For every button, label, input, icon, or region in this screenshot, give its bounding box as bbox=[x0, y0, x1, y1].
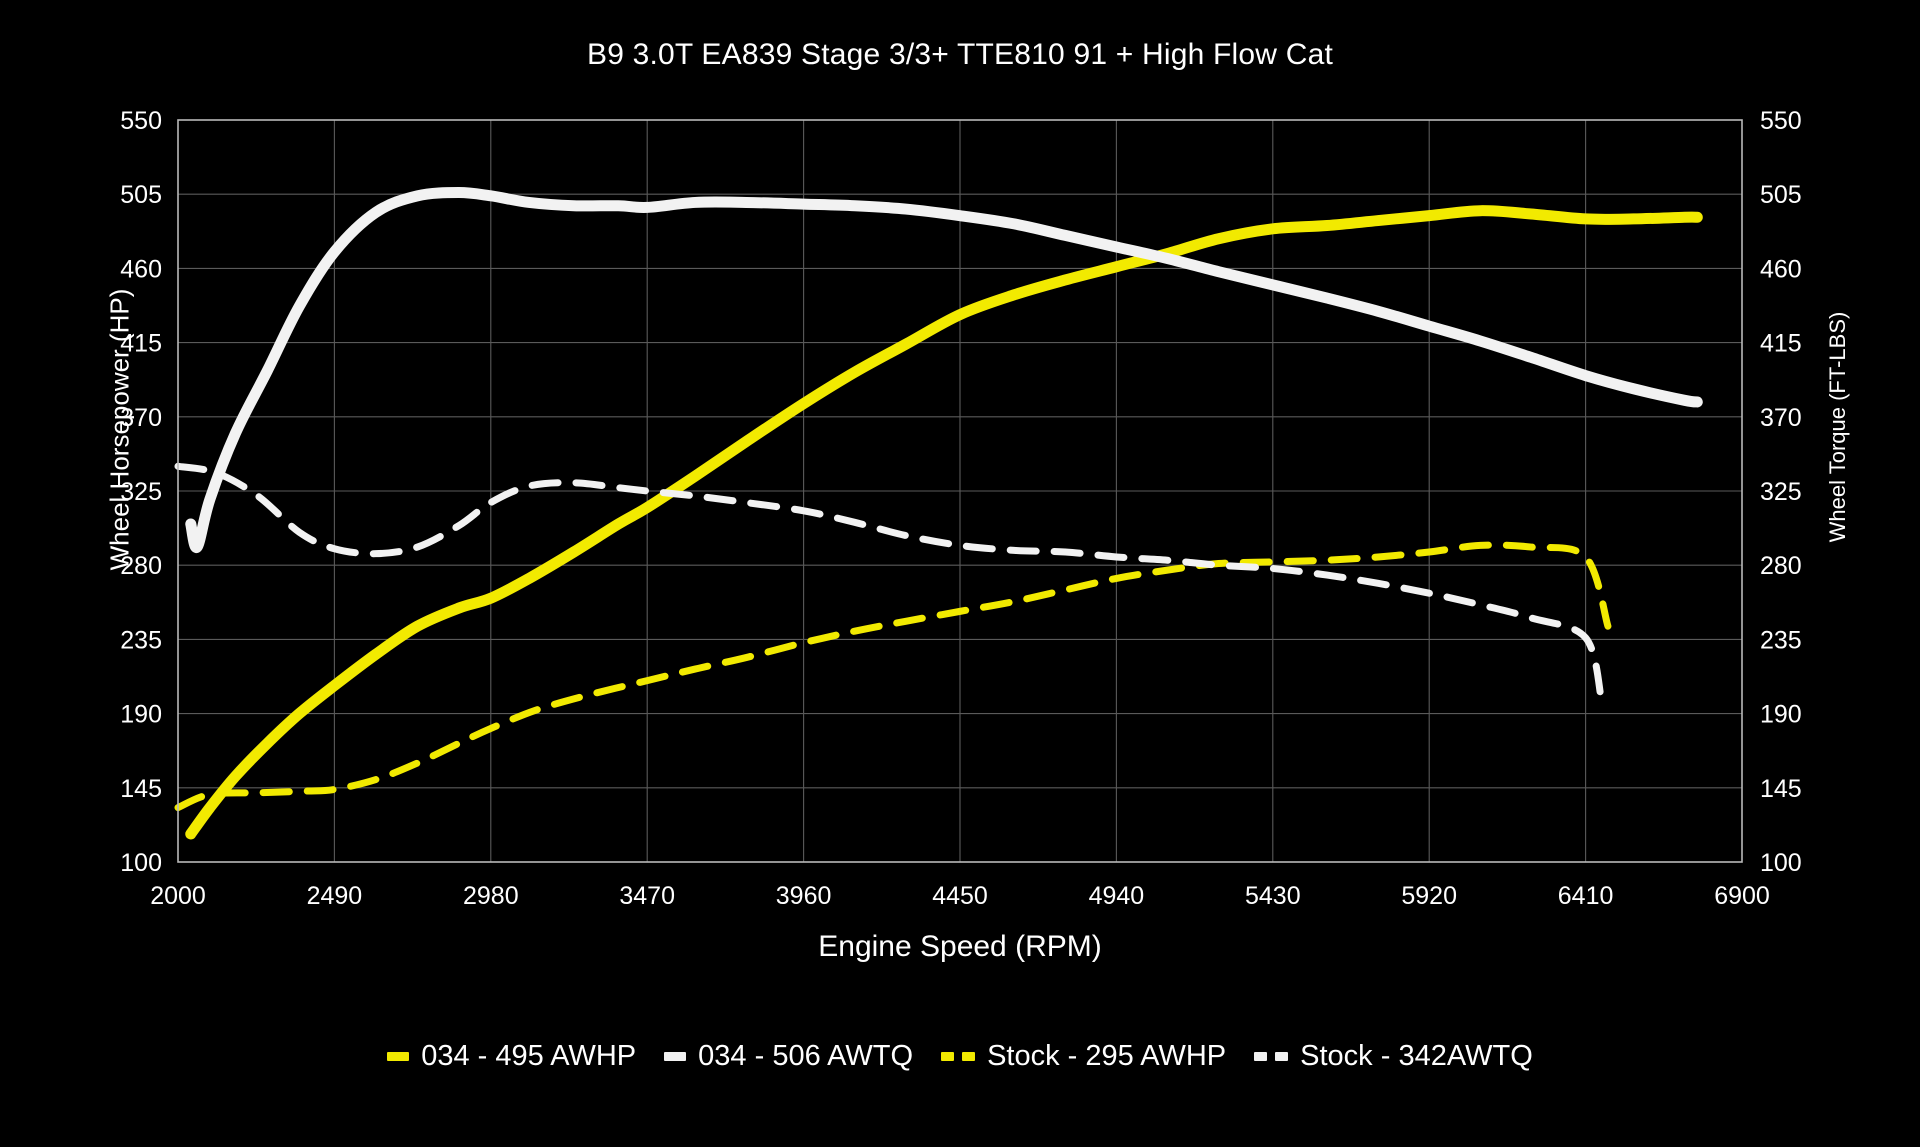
series-line-1 bbox=[191, 211, 1698, 834]
y-axis-right-tick: 190 bbox=[1760, 701, 1802, 729]
x-axis-tick: 3960 bbox=[776, 882, 832, 910]
y-axis-right-tick: 505 bbox=[1760, 181, 1802, 209]
x-axis-tick: 2980 bbox=[463, 882, 519, 910]
chart-legend: 034 - 495 AWHP034 - 506 AWTQStock - 295 … bbox=[0, 1040, 1920, 1073]
y-axis-left-tick: 505 bbox=[120, 181, 162, 209]
y-axis-right-tick: 235 bbox=[1760, 626, 1802, 654]
y-axis-left-tick: 370 bbox=[120, 404, 162, 432]
x-axis-tick: 6900 bbox=[1714, 882, 1770, 910]
legend-item[interactable]: Stock - 342AWTQ bbox=[1254, 1040, 1533, 1073]
dyno-chart: B9 3.0T EA839 Stage 3/3+ TTE810 91 + Hig… bbox=[0, 0, 1920, 1147]
line-swatch-white-dashed bbox=[1254, 1052, 1288, 1061]
y-axis-right-tick: 325 bbox=[1760, 478, 1802, 506]
y-axis-left-tick: 325 bbox=[120, 478, 162, 506]
y-axis-right-tick: 370 bbox=[1760, 404, 1802, 432]
x-axis-tick: 4940 bbox=[1089, 882, 1145, 910]
y-axis-left-tick: 190 bbox=[120, 701, 162, 729]
legend-item[interactable]: Stock - 295 AWHP bbox=[941, 1040, 1226, 1073]
y-axis-right-tick: 415 bbox=[1760, 330, 1802, 358]
y-axis-left-tick: 415 bbox=[120, 330, 162, 358]
x-axis-tick: 5920 bbox=[1401, 882, 1457, 910]
series-line-3 bbox=[178, 545, 1608, 808]
legend-label: Stock - 295 AWHP bbox=[987, 1040, 1226, 1073]
data-series bbox=[178, 193, 1697, 834]
y-axis-left-tick: 550 bbox=[120, 107, 162, 135]
plot-area: 1001001451451901902352352802803253253703… bbox=[0, 0, 1920, 1000]
x-axis-tick: 4450 bbox=[932, 882, 988, 910]
x-axis-tick: 2490 bbox=[307, 882, 363, 910]
y-axis-left-tick: 460 bbox=[120, 255, 162, 283]
legend-label: 034 - 495 AWHP bbox=[421, 1040, 636, 1073]
axis-tick-labels: 1001001451451901902352352802803253253703… bbox=[120, 107, 1801, 910]
y-axis-left-tick: 145 bbox=[120, 775, 162, 803]
x-axis-tick: 2000 bbox=[150, 882, 206, 910]
y-axis-right-tick: 460 bbox=[1760, 255, 1802, 283]
line-swatch-yellow-dashed bbox=[941, 1052, 975, 1061]
y-axis-left-tick: 235 bbox=[120, 626, 162, 654]
y-axis-right-tick: 280 bbox=[1760, 552, 1802, 580]
legend-label: Stock - 342AWTQ bbox=[1300, 1040, 1533, 1073]
x-axis-tick: 6410 bbox=[1558, 882, 1614, 910]
y-axis-left-tick: 280 bbox=[120, 552, 162, 580]
legend-item[interactable]: 034 - 506 AWTQ bbox=[664, 1040, 913, 1073]
x-axis-tick: 5430 bbox=[1245, 882, 1301, 910]
legend-item[interactable]: 034 - 495 AWHP bbox=[387, 1040, 636, 1073]
line-swatch-white-solid bbox=[664, 1052, 686, 1061]
legend-label: 034 - 506 AWTQ bbox=[698, 1040, 913, 1073]
series-line-4 bbox=[178, 466, 1602, 700]
y-axis-right-tick: 100 bbox=[1760, 849, 1802, 877]
series-line-2 bbox=[191, 193, 1698, 548]
y-axis-right-tick: 145 bbox=[1760, 775, 1802, 803]
grid-lines bbox=[178, 120, 1742, 862]
y-axis-left-tick: 100 bbox=[120, 849, 162, 877]
plot-svg: 1001001451451901902352352802803253253703… bbox=[0, 0, 1920, 1000]
y-axis-right-tick: 550 bbox=[1760, 107, 1802, 135]
line-swatch-yellow-solid bbox=[387, 1052, 409, 1061]
x-axis-tick: 3470 bbox=[619, 882, 675, 910]
